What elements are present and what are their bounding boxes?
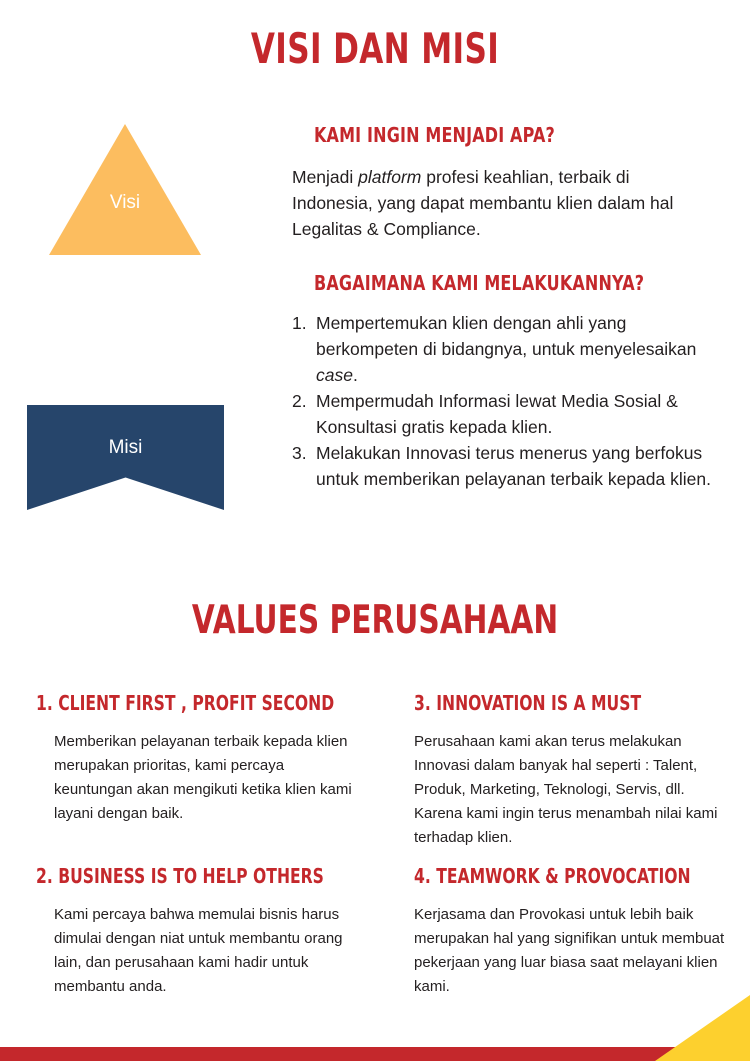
mission-heading: BAGAIMANA KAMI MELAKUKANNYA? <box>314 272 632 294</box>
mission-shape-label: Misi <box>27 437 224 459</box>
emphasis-text: platform <box>358 167 421 187</box>
mission-list: 1.Mempertemukan klien dengan ahli yang b… <box>292 310 712 492</box>
plain-text: . <box>353 365 358 385</box>
value-body: Kami percaya bahwa memulai bisnis harus … <box>54 903 354 999</box>
value-body: Perusahaan kami akan terus melakukan Inn… <box>414 730 734 850</box>
value-heading: 3. INNOVATION IS A MUST <box>414 692 679 714</box>
values-grid: 1. CLIENT FIRST , PROFIT SECOND Memberik… <box>0 692 750 1022</box>
plain-text: Mempertemukan klien dengan ahli yang ber… <box>316 313 696 359</box>
plain-text: Menjadi <box>292 167 358 187</box>
list-item: 1.Mempertemukan klien dengan ahli yang b… <box>292 310 712 388</box>
vision-triangle-shape <box>49 124 201 255</box>
bottom-red-bar <box>0 1047 750 1061</box>
value-item-1: 1. CLIENT FIRST , PROFIT SECOND Memberik… <box>36 692 376 826</box>
list-item-number: 3. <box>292 440 314 466</box>
page-title: VISI DAN MISI <box>98 26 653 72</box>
values-section-title: VALUES PERUSAHAAN <box>90 600 660 642</box>
vision-mission-column: KAMI INGIN MENJADI APA? Menjadi platform… <box>292 124 712 492</box>
value-heading: 4. TEAMWORK & PROVOCATION <box>414 865 679 887</box>
value-heading: 2. BUSINESS IS TO HELP OTHERS <box>36 865 301 887</box>
emphasis-text: case <box>316 365 353 385</box>
vision-paragraph: Menjadi platform profesi keahlian, terba… <box>292 164 712 242</box>
value-item-2: 2. BUSINESS IS TO HELP OTHERS Kami perca… <box>36 865 376 999</box>
list-item-number: 2. <box>292 388 314 414</box>
value-heading: 1. CLIENT FIRST , PROFIT SECOND <box>36 692 301 714</box>
list-item: 3.Melakukan Innovasi terus menerus yang … <box>292 440 712 492</box>
list-item: 2.Mempermudah Informasi lewat Media Sosi… <box>292 388 712 440</box>
value-body: Kerjasama dan Provokasi untuk lebih baik… <box>414 903 734 999</box>
vision-heading: KAMI INGIN MENJADI APA? <box>314 124 632 146</box>
plain-text: Mempermudah Informasi lewat Media Sosial… <box>316 391 678 437</box>
list-item-number: 1. <box>292 310 314 336</box>
value-item-3: 3. INNOVATION IS A MUST Perusahaan kami … <box>414 692 750 850</box>
value-item-4: 4. TEAMWORK & PROVOCATION Kerjasama dan … <box>414 865 750 999</box>
poster-page: VISI DAN MISI Visi Misi KAMI INGIN MENJA… <box>0 0 750 1061</box>
plain-text: Melakukan Innovasi terus menerus yang be… <box>316 443 711 489</box>
vision-shape-label: Visi <box>49 192 201 214</box>
value-body: Memberikan pelayanan terbaik kepada klie… <box>54 730 354 826</box>
